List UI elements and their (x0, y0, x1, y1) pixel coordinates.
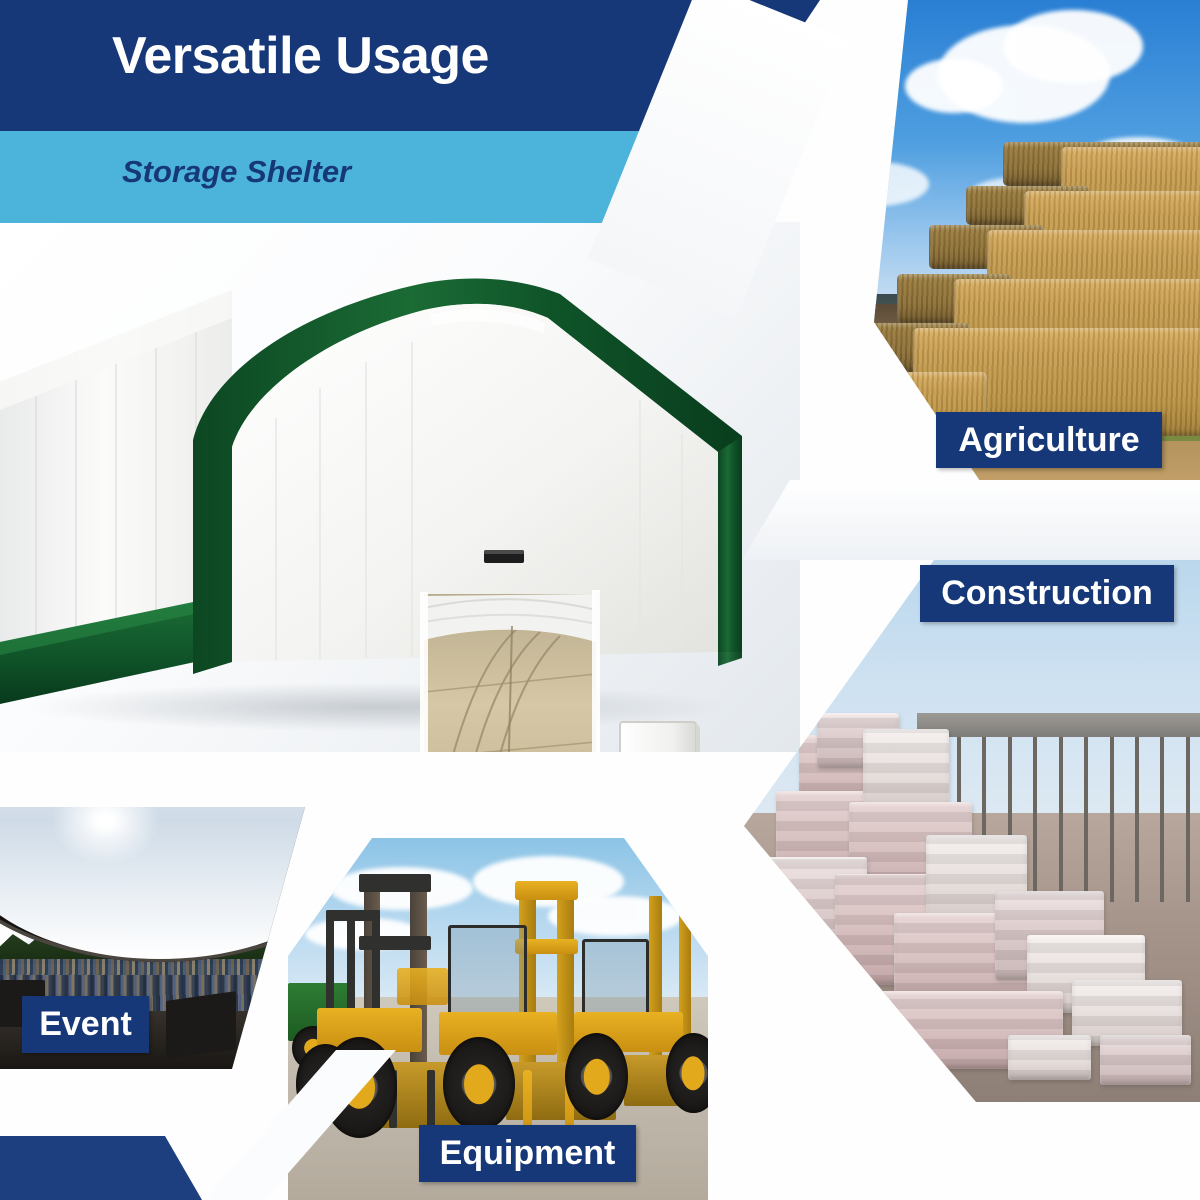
mast-crossbar (359, 874, 430, 892)
bottom-left-navy-wedge (0, 1136, 210, 1200)
background-machine (397, 968, 447, 1004)
rops-cage-post (326, 910, 334, 1019)
support-column (1059, 737, 1063, 901)
label-event: Event (22, 996, 149, 1053)
support-column (1135, 737, 1139, 901)
construction-photo-panel (744, 546, 1200, 1102)
concrete-beam (917, 713, 1200, 738)
tire (565, 1033, 628, 1120)
label-agriculture: Agriculture (936, 412, 1162, 468)
label-construction: Construction (920, 565, 1174, 622)
shelter-product-image (0, 222, 800, 752)
rops-cage-post (347, 910, 355, 1019)
fork-tine (427, 1070, 435, 1128)
cloud (823, 162, 930, 206)
operator-cab (448, 925, 528, 1019)
label-equipment: Equipment (419, 1125, 636, 1182)
tent-roof-inner (0, 807, 320, 959)
tire (322, 1037, 398, 1138)
block-stack (1008, 1035, 1090, 1079)
support-column (1160, 737, 1164, 901)
support-column (1110, 737, 1114, 901)
mast-crossbar (515, 881, 578, 899)
rops-cage-post (372, 910, 380, 1019)
stage-equipment (166, 991, 236, 1059)
support-column (1033, 737, 1037, 901)
tire (443, 1037, 514, 1131)
mast-rail (557, 881, 574, 1069)
support-column (1186, 737, 1190, 901)
operator-cab (582, 939, 649, 1022)
block-stack (863, 729, 950, 812)
page-subtitle: Storage Shelter (122, 156, 351, 187)
shelter-illustration (0, 222, 800, 752)
cloud (905, 59, 1003, 113)
header-band-cyan (0, 131, 760, 223)
support-column (1084, 737, 1088, 901)
mast-crossbar (359, 936, 430, 950)
cloud (1003, 10, 1142, 84)
infographic-canvas: Versatile Usage Storage Shelter Agricult… (0, 0, 1200, 1200)
page-title: Versatile Usage (112, 30, 489, 82)
block-stack (1100, 1035, 1191, 1085)
construction-scene (744, 546, 1200, 1102)
